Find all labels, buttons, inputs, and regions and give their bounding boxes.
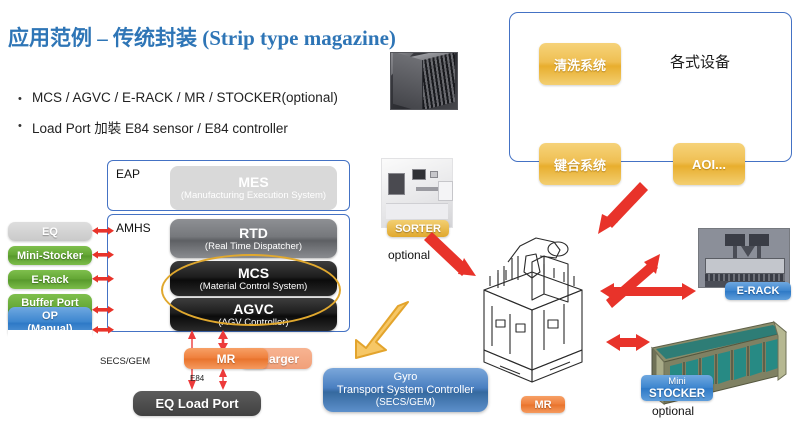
page-title: 应用范例 – 传统封装 (Strip type magazine): [8, 22, 396, 52]
e-rack-label-chip: E-RACK: [725, 282, 791, 300]
eap-label: EAP: [116, 167, 140, 181]
sorter-label-chip: SORTER: [387, 220, 449, 237]
equipment-chip-aoi[interactable]: AOI...: [673, 143, 745, 185]
gyro-transport-system-controller[interactable]: Gyro Transport System Controller (SECS/G…: [323, 368, 488, 412]
arrow-sorter-to-mr: [424, 232, 476, 276]
mes-title: MES: [238, 175, 268, 190]
rtd-subtitle: (Real Time Dispatcher): [205, 241, 302, 253]
e-rack-stem-left: [733, 246, 737, 258]
e-rack-conveyor: [705, 274, 785, 281]
rtd-card: RTD (Real Time Dispatcher): [170, 219, 337, 258]
agvc-title: AGVC: [233, 301, 273, 317]
mini-stocker-chip-line2: STOCKER: [649, 388, 705, 400]
slide-canvas: 应用范例 – 传统封装 (Strip type magazine) • MCS …: [0, 0, 800, 426]
entity-mini-stocker[interactable]: Mini-Stocker: [8, 246, 92, 265]
equipment-panel: 各式设备 清洗系统 键合系统 AOI...: [509, 12, 792, 162]
entity-eq[interactable]: EQ: [8, 222, 92, 241]
strip-magazine-photo: [390, 52, 458, 110]
sorter-optional-note: optional: [388, 248, 430, 262]
mr-label-chip: MR: [521, 396, 565, 413]
sorter-base: [386, 203, 448, 219]
link-label-secs-gem: SECS/GEM: [100, 356, 150, 367]
entity-link-arrows: [92, 218, 114, 340]
e-rack-shelf: [705, 258, 785, 274]
mes-subtitle: (Manufacturing Execution System): [181, 190, 326, 202]
entity-e-rack-label: E-Rack: [31, 274, 68, 286]
bullet-text: Load Port 加裝 E84 sensor / E84 controller: [32, 117, 288, 137]
e-rack-funnel: [741, 246, 755, 257]
bullet-text: MCS / AGVC / E-RACK / MR / STOCKER(optio…: [32, 90, 338, 105]
agvc-card: AGVC (AGV Controller): [170, 298, 337, 331]
amhs-container: AMHS RTD (Real Time Dispatcher) MCS (Mat…: [107, 214, 350, 332]
bullet-item: • MCS / AGVC / E-RACK / MR / STOCKER(opt…: [18, 90, 338, 108]
entity-op-clip-mask: [8, 330, 92, 342]
entity-e-rack[interactable]: E-Rack: [8, 270, 92, 289]
mr-robot-illustration: [470, 228, 592, 388]
e-rack-head-left: [725, 234, 745, 246]
entity-eq-label: EQ: [42, 226, 58, 238]
entity-mini-stocker-label: Mini-Stocker: [17, 250, 83, 262]
sorter-photo: [381, 158, 453, 228]
mes-card: MES (Manufacturing Execution System): [170, 166, 337, 210]
agvc-subtitle: (AGV Controller): [218, 317, 288, 329]
eap-container: EAP MES (Manufacturing Execution System): [107, 160, 350, 211]
bullet-marker-icon: •: [18, 90, 32, 108]
equipment-panel-heading: 各式设备: [670, 51, 730, 72]
entity-op-label: OP: [42, 310, 58, 323]
eq-load-port-box[interactable]: EQ Load Port: [133, 391, 261, 416]
magazine-face: [393, 52, 423, 110]
gyro-line1: Gyro: [394, 371, 418, 384]
equipment-chip-bonding[interactable]: 键合系统: [539, 143, 621, 185]
rtd-title: RTD: [239, 225, 268, 241]
e-rack-photo: [698, 228, 790, 288]
gyro-line2: Transport System Controller: [337, 384, 474, 397]
mcs-title: MCS: [238, 265, 269, 281]
sorter-panel: [430, 171, 438, 178]
link-label-e84: E84: [190, 374, 204, 383]
mcs-card: MCS (Material Control System): [170, 261, 337, 296]
arrow-mr-to-erack: [600, 283, 696, 300]
mcs-subtitle: (Material Control System): [200, 281, 308, 293]
sorter-monitor: [412, 169, 426, 180]
gyro-line3: (SECS/GEM): [376, 397, 435, 409]
mini-stocker-chip-line1: Mini: [668, 376, 685, 388]
mini-stocker-label-chip: Mini STOCKER: [641, 375, 713, 401]
arrow-mr-to-equipment: [606, 254, 660, 308]
mr-box[interactable]: MR: [184, 348, 268, 369]
amhs-label: AMHS: [116, 221, 151, 235]
sorter-tray: [438, 181, 453, 201]
e-rack-head-right: [749, 234, 769, 246]
agvc-to-gyro-arrow-icon: [316, 296, 412, 376]
mini-stocker-optional-note: optional: [652, 404, 694, 418]
arrow-equipment-to-mr: [598, 182, 648, 234]
equipment-chip-cleaning[interactable]: 清洗系统: [539, 43, 621, 85]
bullet-item: • Load Port 加裝 E84 sensor / E84 controll…: [18, 117, 288, 137]
sorter-window: [388, 173, 405, 195]
bullet-marker-icon: •: [18, 117, 32, 135]
e-rack-stem-right: [757, 246, 761, 258]
